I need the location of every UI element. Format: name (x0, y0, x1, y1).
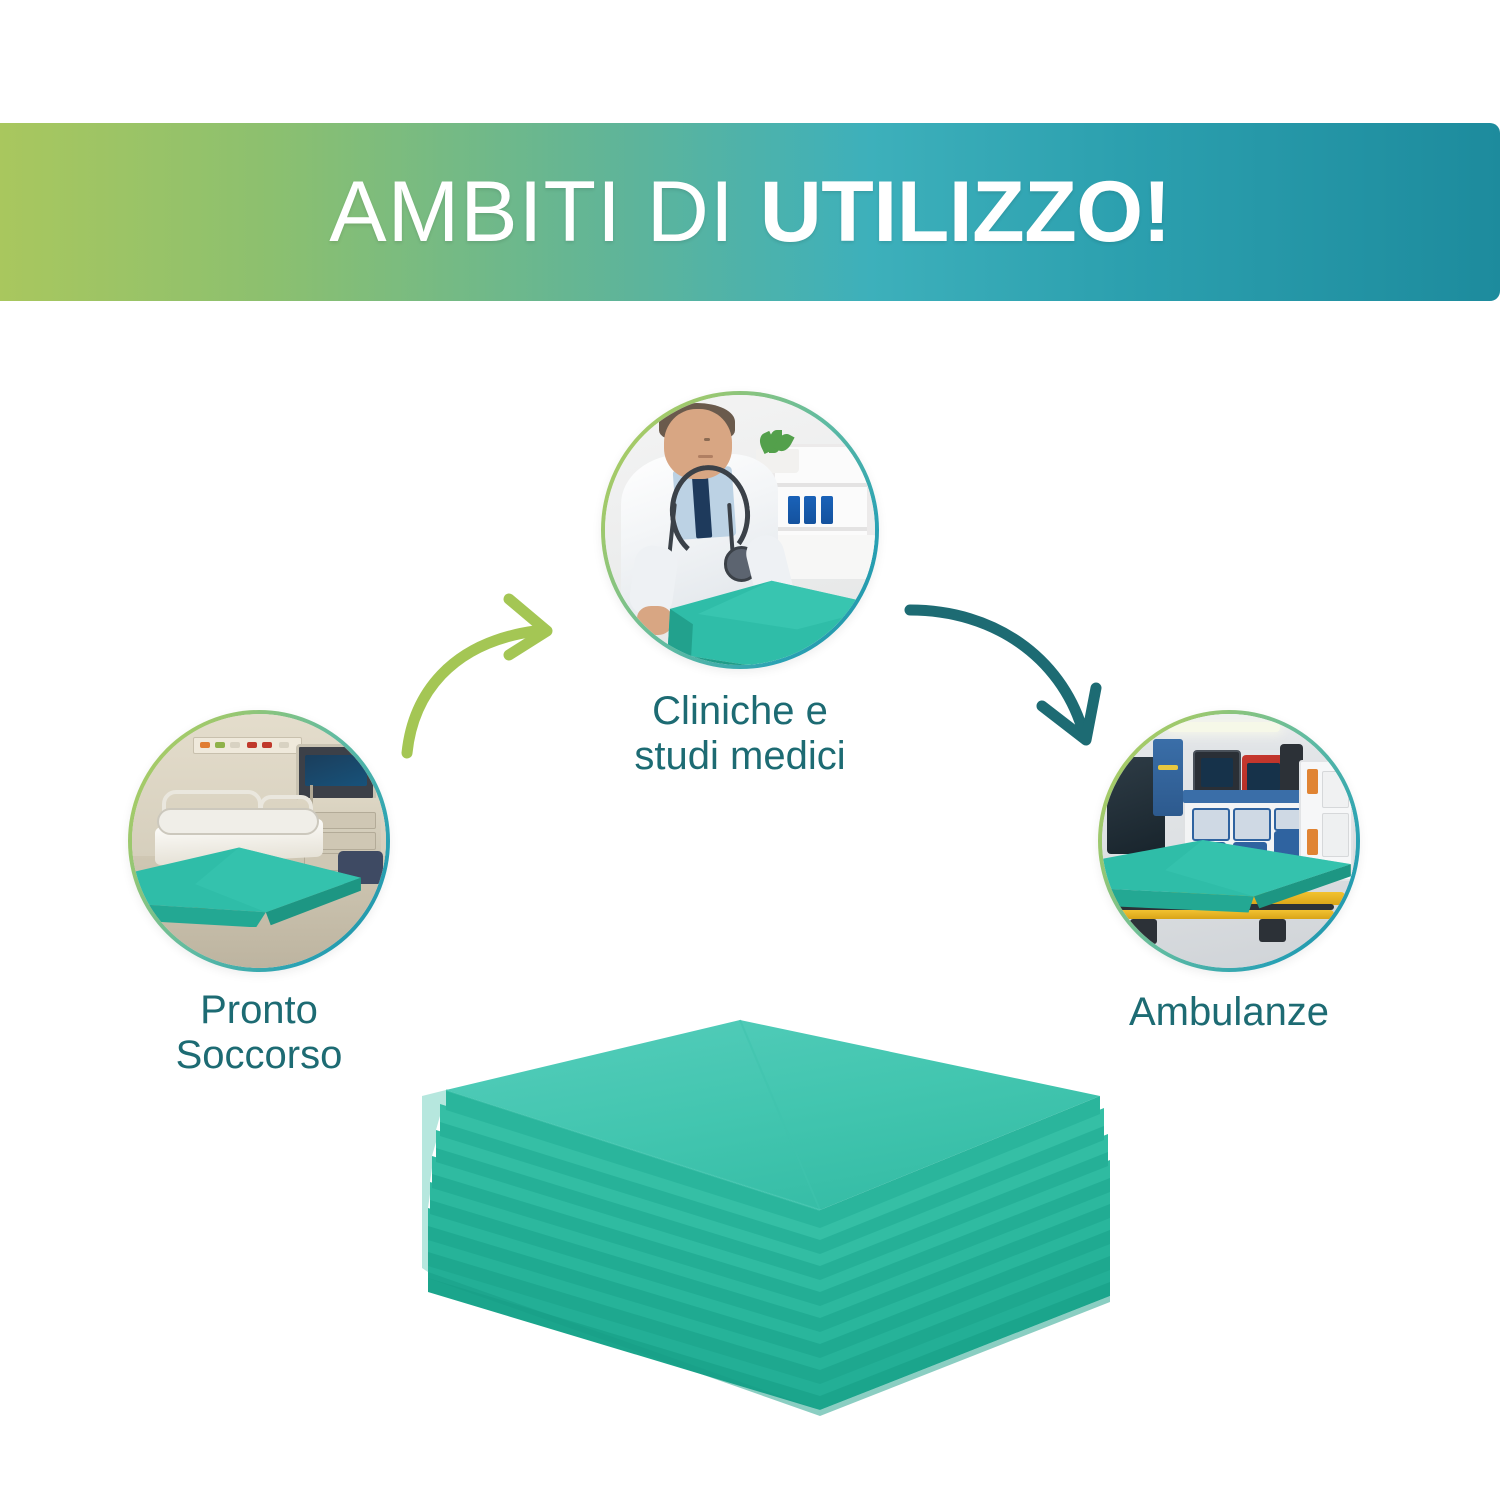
ceiling-light (1168, 722, 1280, 732)
item-ambulanze: Ambulanze (1098, 710, 1360, 972)
bed-frame (157, 808, 318, 835)
item-pronto-soccorso: Pronto Soccorso (128, 710, 390, 972)
caption-line-2: studi medici (634, 734, 845, 779)
caption-line-1: Pronto (176, 988, 343, 1033)
caption-line-2: Soccorso (176, 1033, 343, 1078)
photo-cliniche-studi-medici (605, 395, 875, 665)
page-title-bold: UTILIZZO! (760, 164, 1171, 260)
photo-ring-ambulanze (1098, 710, 1360, 972)
wall-outlet-panel (193, 737, 302, 754)
caption-line-1: Ambulanze (1129, 990, 1329, 1035)
header-banner: AMBITI DI UTILIZZO! (0, 123, 1500, 301)
arrow-center-to-right (900, 588, 1110, 768)
caption-pronto-soccorso: Pronto Soccorso (176, 988, 343, 1078)
stretcher-with-sheet (1102, 841, 1356, 953)
caption-ambulanze: Ambulanze (1129, 990, 1329, 1035)
photo-pronto-soccorso (132, 714, 386, 968)
page-title-light: AMBITI DI (329, 164, 759, 260)
vital-signs-monitor (296, 744, 376, 801)
arrow-left-to-center (395, 585, 595, 765)
photo-ring-pronto-soccorso (128, 710, 390, 972)
door-panel (1153, 739, 1183, 815)
teal-sheet-draped (132, 841, 366, 927)
teal-sheet-on-table (632, 573, 875, 665)
caption-cliniche-studi-medici: Cliniche e studi medici (634, 689, 845, 779)
caption-line-1: Cliniche e (634, 689, 845, 734)
product-sheet-stack (410, 1010, 1110, 1470)
plant-leaves (756, 430, 794, 454)
gurney-with-sheet (132, 841, 366, 927)
photo-ambulanze (1102, 714, 1356, 968)
infographic-canvas: AMBITI DI UTILIZZO! (0, 0, 1500, 1500)
teal-sheet-draped (1102, 834, 1356, 914)
page-title: AMBITI DI UTILIZZO! (329, 169, 1171, 255)
item-cliniche-studi-medici: Cliniche e studi medici (601, 391, 879, 669)
photo-ring-cliniche (601, 391, 879, 669)
